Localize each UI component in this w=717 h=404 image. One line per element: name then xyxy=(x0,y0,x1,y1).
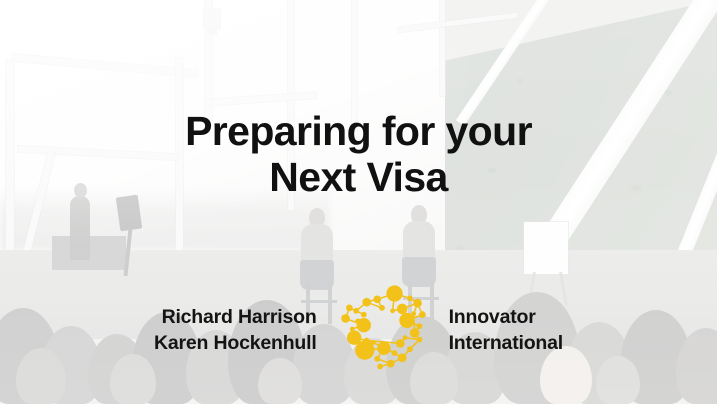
presenter-names: Richard Harrison Karen Hockenhull xyxy=(154,304,317,356)
organisation-name: Innovator International xyxy=(449,304,563,356)
slide-footer: Richard Harrison Karen Hockenhull Innova… xyxy=(0,282,717,378)
slide-content: Preparing for your Next Visa Richard Har… xyxy=(0,0,717,404)
presentation-slide: Preparing for your Next Visa Richard Har… xyxy=(0,0,717,404)
page-title: Preparing for your Next Visa xyxy=(0,108,717,200)
innovator-international-logo-icon xyxy=(335,282,431,378)
